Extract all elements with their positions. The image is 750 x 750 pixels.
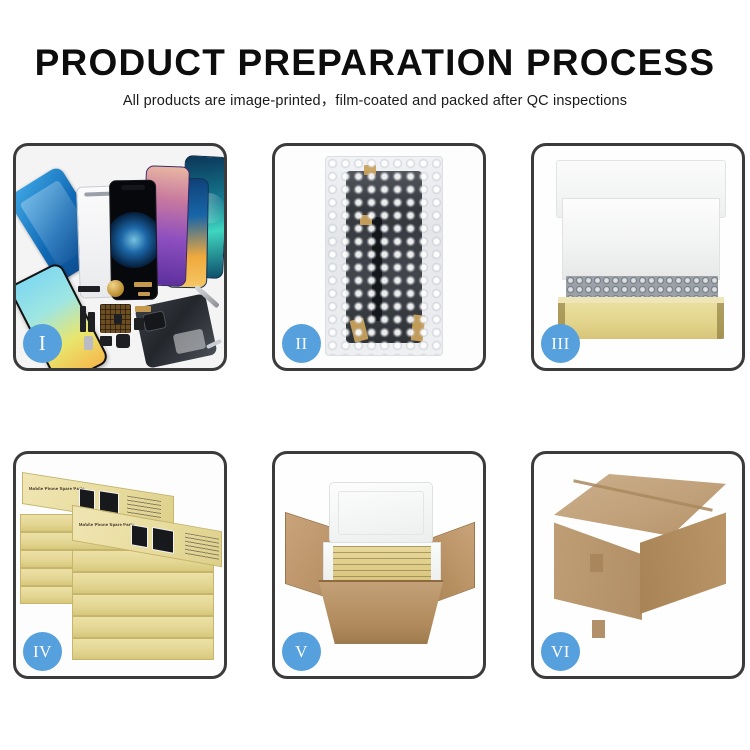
gold-tape-icon [360,215,372,225]
gold-tape-icon [350,318,369,343]
box-label-text: Mobile Phone Spare Parts [79,522,135,527]
open-cardboard-carton-icon [313,580,449,644]
step-panel-3: III [531,143,745,371]
step-panel-2: II [272,143,486,371]
packing-tape-icon [590,554,603,572]
phone-back-housing-icon [134,293,217,368]
small-component-icon [138,292,150,296]
step-panel-5: V [272,451,486,679]
box-label-text: Mobile Phone Spare Parts [29,486,86,491]
header: PRODUCT PREPARATION PROCESS All products… [0,0,750,128]
yellow-kraft-box-icon [558,303,724,339]
styrofoam-lid-icon [329,482,433,544]
step-badge: IV [23,632,62,671]
gold-coin-part-icon [107,280,124,297]
step-panel-4: Mobile Phone Spare Parts Mobile Phone Sp… [13,451,227,679]
packing-tape-icon [592,620,605,638]
small-component-icon [78,286,100,292]
process-step-grid: I II [13,143,745,680]
small-component-icon [114,314,122,324]
step-badge: II [282,324,321,363]
small-component-icon [100,336,112,346]
small-component-icon [80,306,86,332]
page-title: PRODUCT PREPARATION PROCESS [0,42,750,84]
flex-cable-icon [372,217,382,321]
product-preparation-process-infographic: PRODUCT PREPARATION PROCESS All products… [0,0,750,750]
step-panel-6: VI [531,451,745,679]
small-component-icon [84,336,93,350]
step-badge: I [23,324,62,363]
bubble-wrap-pouch-icon [325,156,443,356]
page-subtitle: All products are image-printed，film-coat… [0,89,750,110]
yellow-boxes-inside-icon [333,546,431,580]
step-badge: VI [541,632,580,671]
step-badge: V [282,632,321,671]
step-panel-1: I [13,143,227,371]
small-component-icon [134,318,144,330]
small-component-icon [116,334,130,348]
gold-tape-icon [411,314,426,341]
small-component-icon [88,312,95,332]
dark-phone-part-icon [346,171,422,343]
small-component-icon [135,306,151,312]
white-foam-sheet-icon [562,198,720,280]
step-badge: III [541,324,580,363]
small-component-icon [134,282,152,287]
gold-tape-icon [364,165,376,175]
